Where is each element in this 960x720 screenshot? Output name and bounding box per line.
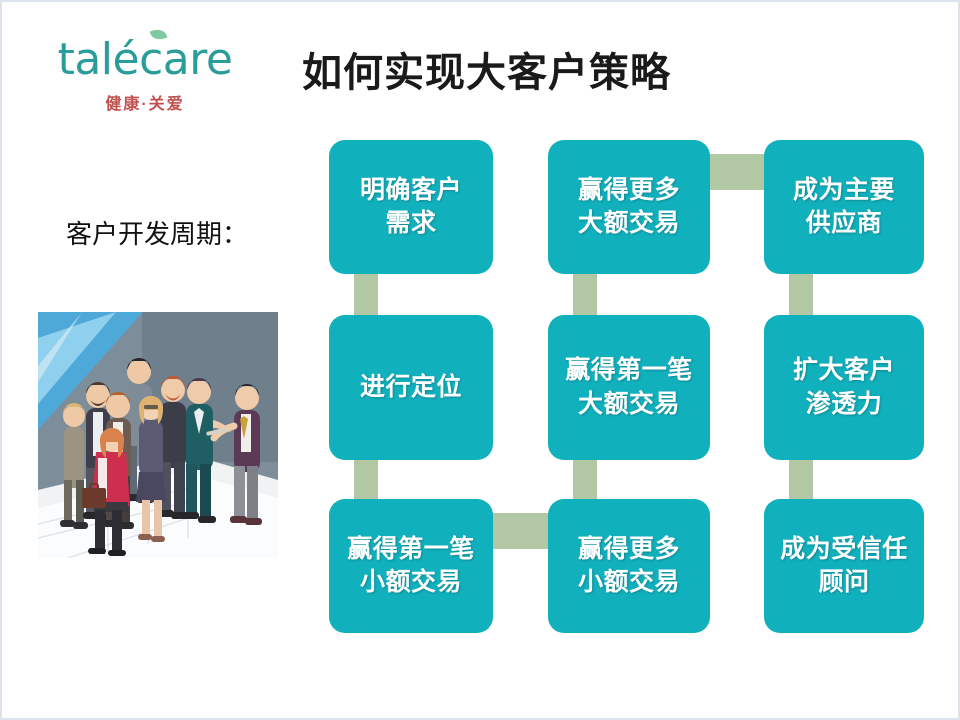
flow-connector xyxy=(354,454,378,505)
flow-node-label: 明确客户 xyxy=(360,174,462,208)
flow-connector xyxy=(789,268,813,321)
flow-connector xyxy=(573,268,597,321)
flow-node[interactable]: 赢得第一笔小额交易 xyxy=(329,499,493,633)
flow-connector xyxy=(573,454,597,505)
flow-node-label: 大额交易 xyxy=(578,207,680,241)
flow-node-label: 供应商 xyxy=(806,207,883,241)
flow-node-label: 成为受信任 xyxy=(780,533,908,567)
flow-node[interactable]: 成为受信任顾问 xyxy=(764,499,924,633)
flow-node[interactable]: 赢得更多小额交易 xyxy=(548,499,710,633)
flow-node[interactable]: 明确客户需求 xyxy=(329,140,493,274)
flow-node-label: 赢得第一笔 xyxy=(565,354,693,388)
flow-node-label: 渗透力 xyxy=(806,388,883,422)
flow-node[interactable]: 进行定位 xyxy=(329,315,493,460)
flow-node-label: 需求 xyxy=(385,207,436,241)
flow-node[interactable]: 赢得更多大额交易 xyxy=(548,140,710,274)
flow-node-label: 进行定位 xyxy=(360,371,462,405)
flow-node[interactable]: 赢得第一笔大额交易 xyxy=(548,315,710,460)
flow-node-label: 小额交易 xyxy=(360,566,462,600)
flow-connector xyxy=(354,268,378,321)
flow-node[interactable]: 扩大客户渗透力 xyxy=(764,315,924,460)
flow-node-label: 成为主要 xyxy=(793,174,895,208)
flow-connector xyxy=(704,154,770,190)
flow-node-label: 赢得第一笔 xyxy=(347,533,475,567)
flow-node-label: 小额交易 xyxy=(578,566,680,600)
flow-node-label: 扩大客户 xyxy=(793,354,895,388)
flow-node[interactable]: 成为主要供应商 xyxy=(764,140,924,274)
flow-connector xyxy=(789,454,813,505)
process-flow-diagram: 明确客户需求赢得更多大额交易成为主要供应商进行定位赢得第一笔大额交易扩大客户渗透… xyxy=(2,2,960,720)
flow-node-label: 赢得更多 xyxy=(578,533,680,567)
presentation-slide: talécare 健康·关爱 如何实现大客户策略 客户开发周期： xyxy=(0,0,960,720)
flow-node-label: 顾问 xyxy=(818,566,869,600)
flow-connector xyxy=(487,513,554,549)
flow-node-label: 赢得更多 xyxy=(578,174,680,208)
flow-node-label: 大额交易 xyxy=(578,388,680,422)
